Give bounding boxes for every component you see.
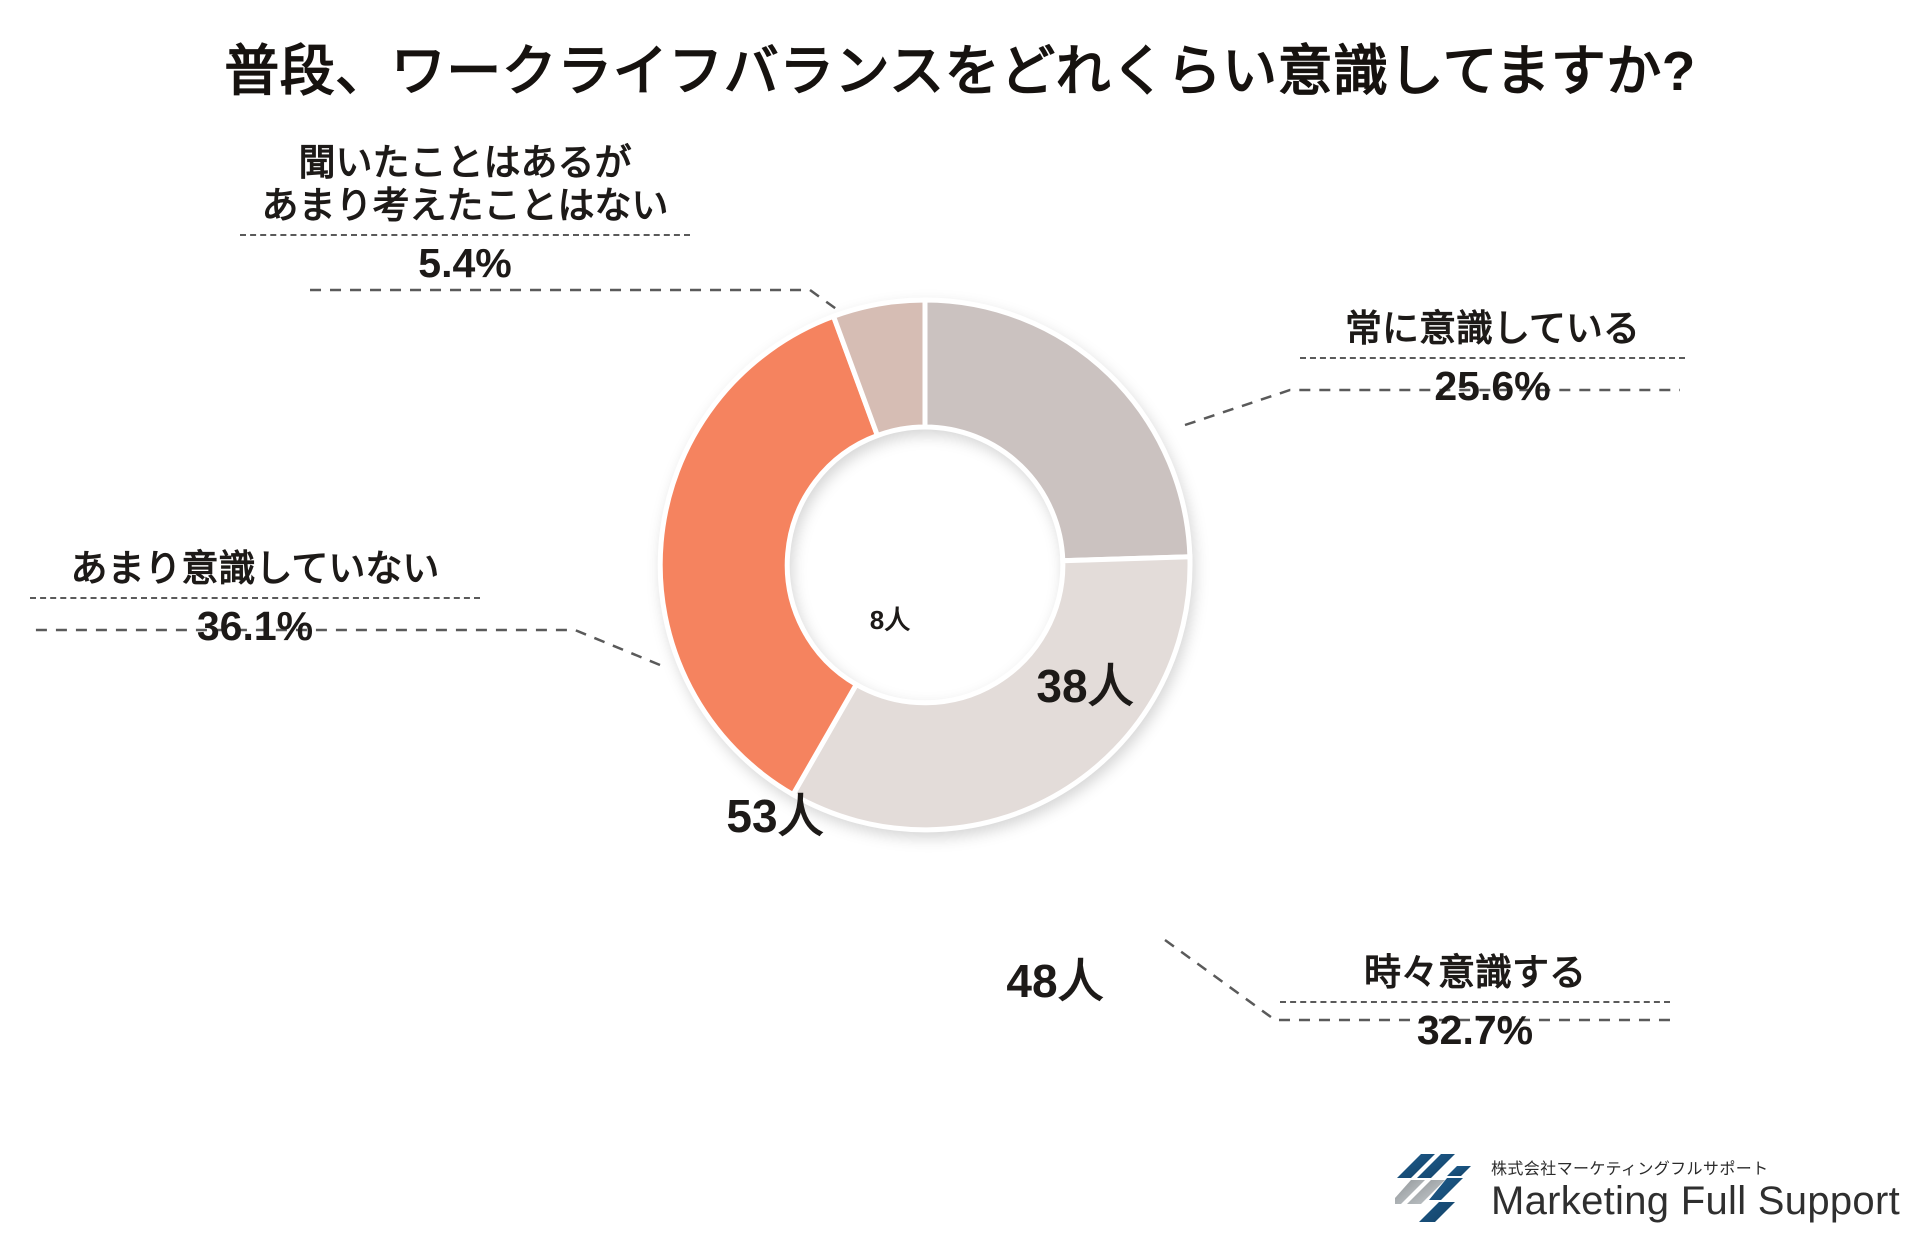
logo-company-jp: 株式会社マーケティングフルサポート [1491, 1155, 1900, 1179]
callout-heard-percent: 5.4% [240, 240, 690, 287]
slice-value-heard: 8人 [835, 600, 945, 637]
callout-always-rule [1300, 357, 1685, 359]
page-title: 普段、ワークライフバランスをどれくらい意識してますか? [0, 26, 1920, 106]
callout-always-percent: 25.6% [1300, 363, 1685, 410]
donut-svg [635, 275, 1215, 855]
callout-sometimes-rule [1280, 1001, 1670, 1003]
slice-value-rarely: 53人 [695, 780, 855, 846]
callout-heard-label-line2: あまり考えたことはない [240, 185, 690, 228]
callout-always-label: 常に意識している [1300, 308, 1685, 351]
brand-logo: 株式会社マーケティングフルサポート Marketing Full Support [1395, 1148, 1900, 1228]
callout-rarely-rule [30, 597, 480, 599]
callout-heard-label-line1: 聞いたことはあるが [240, 142, 690, 185]
callout-rarely-label: あまり意識していない [30, 548, 480, 591]
callout-rarely: あまり意識していない 36.1% [30, 548, 480, 650]
callout-rarely-percent: 36.1% [30, 603, 480, 650]
callout-sometimes-label: 時々意識する [1280, 952, 1670, 995]
donut-slice-always[interactable] [925, 300, 1190, 561]
callout-sometimes-percent: 32.7% [1280, 1007, 1670, 1054]
callout-sometimes: 時々意識する 32.7% [1280, 952, 1670, 1054]
callout-heard-rule [240, 234, 690, 236]
marketing-full-support-logo-icon [1395, 1148, 1477, 1228]
slice-value-sometimes: 48人 [975, 945, 1135, 1011]
donut-chart: 38人 48人 53人 8人 [635, 275, 1215, 855]
callout-always: 常に意識している 25.6% [1300, 308, 1685, 410]
logo-company-en: Marketing Full Support [1491, 1181, 1900, 1221]
callout-heard: 聞いたことはあるが あまり考えたことはない 5.4% [240, 142, 690, 287]
chart-canvas: 普段、ワークライフバランスをどれくらい意識してますか? 38人 48人 [0, 0, 1920, 1260]
slice-value-always: 38人 [1005, 650, 1165, 716]
